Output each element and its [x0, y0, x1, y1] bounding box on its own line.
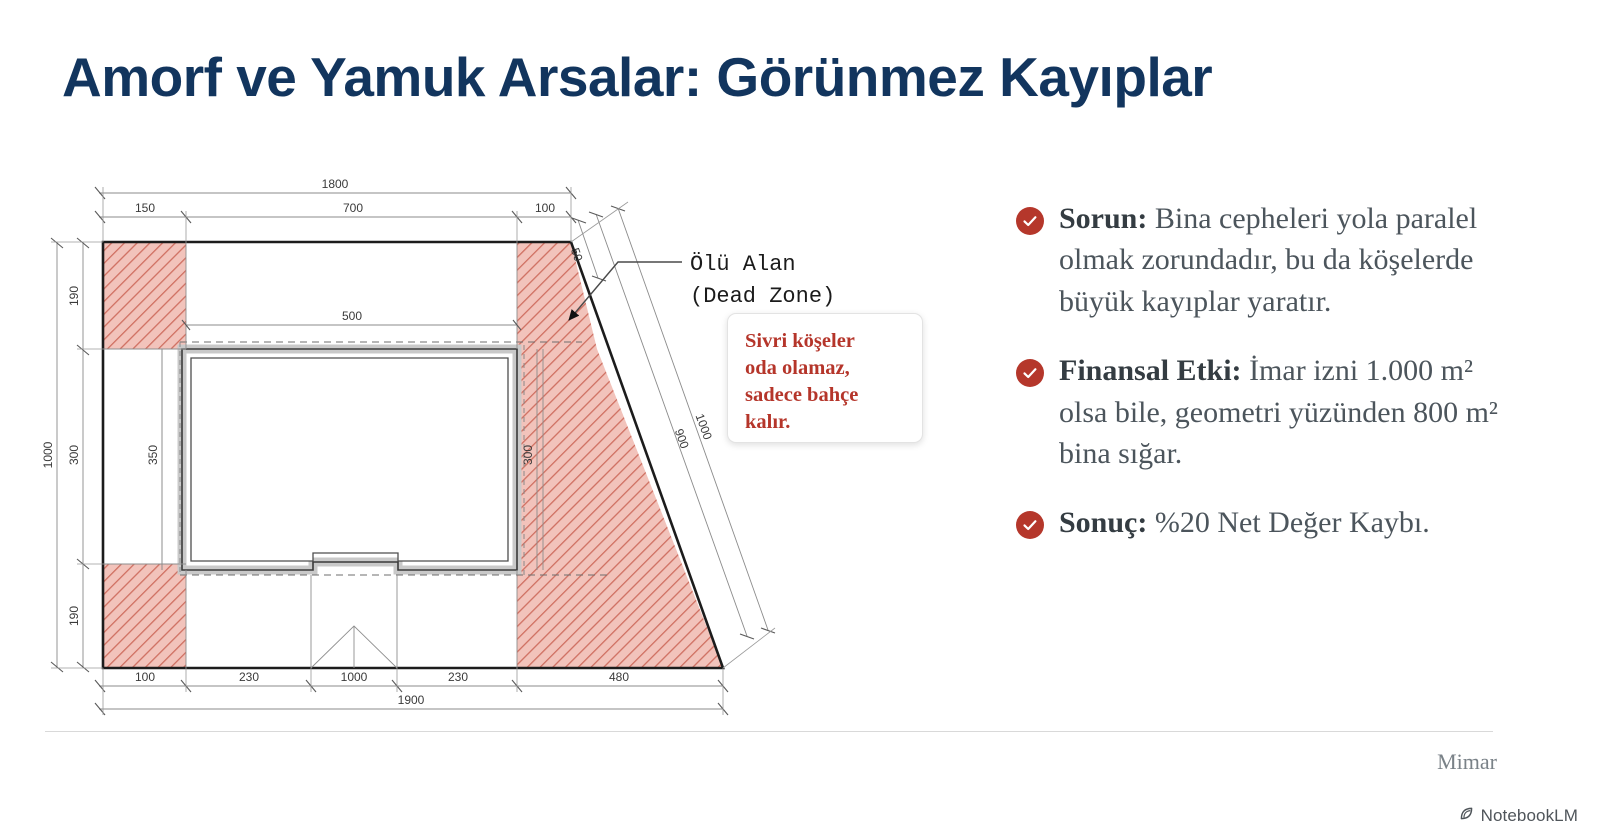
dead-zone-right-wedge [517, 349, 723, 668]
list-item: Sorun: Bina cepheleri yola paralel olmak… [1016, 198, 1526, 322]
bullet-text: Sonuç: %20 Net Değer Kaybı. [1059, 502, 1430, 543]
bullet-text: Sorun: Bina cepheleri yola paralel olmak… [1059, 198, 1526, 322]
bullet-lead: Sonuç: [1059, 506, 1147, 539]
check-circle-icon [1016, 207, 1044, 235]
dim-left-2: 300 [67, 445, 81, 465]
dim-top-3: 100 [535, 201, 555, 215]
callout-text: Sivri köşeler oda olamaz, sadece bahçe k… [745, 328, 906, 436]
dim-bottom-overall: 1900 [398, 693, 425, 707]
bullet-lead: Finansal Etki: [1059, 354, 1242, 387]
dim-inner-right: 300 [521, 445, 535, 465]
dim-left-3: 190 [67, 606, 81, 626]
dead-zone-bottom-left [103, 564, 186, 668]
key-points-list: Sorun: Bina cepheleri yola paralel olmak… [1016, 198, 1526, 572]
watermark-label: NotebookLM [1481, 806, 1578, 826]
dim-bottom-2: 230 [239, 670, 259, 684]
notebooklm-icon [1458, 805, 1475, 827]
check-circle-icon [1016, 511, 1044, 539]
check-circle-icon [1016, 359, 1044, 387]
notebooklm-watermark: NotebookLM [1458, 805, 1578, 827]
bullet-body: %20 Net Değer Kaybı. [1147, 506, 1429, 539]
dim-bottom-4: 230 [448, 670, 468, 684]
dim-bottom-5: 480 [609, 670, 629, 684]
dim-top-overall: 1800 [322, 177, 349, 191]
callout-box: Sivri köşeler oda olamaz, sadece bahçe k… [727, 313, 923, 443]
dim-top-1: 150 [135, 201, 155, 215]
dim-left-1: 190 [67, 286, 81, 306]
dead-zone-leader: Ölü Alan (Dead Zone) [569, 252, 835, 320]
dead-zone-label-line1: Ölü Alan [690, 252, 796, 277]
floor-plan-drawing: 1800 150 700 100 [0, 150, 990, 750]
list-item: Sonuç: %20 Net Değer Kaybı. [1016, 502, 1526, 543]
slide-canvas: Amorf ve Yamuk Arsalar: Görünmez Kayıpla… [0, 0, 1600, 836]
bullet-lead: Sorun: [1059, 202, 1147, 235]
dim-left-overall: 1000 [41, 441, 55, 468]
dim-inner-left: 350 [146, 445, 160, 465]
list-item: Finansal Etki: İmar izni 1.000 m² olsa b… [1016, 350, 1526, 474]
dim-bottom-1: 100 [135, 670, 155, 684]
top-dimension-group: 1800 150 700 100 [95, 177, 576, 242]
bottom-dimension-group: 100 230 1000 230 480 1900 [95, 668, 728, 715]
footer-divider [45, 731, 1493, 732]
dead-zone-label-line2: (Dead Zone) [690, 284, 835, 309]
entrance-symbol [311, 626, 397, 668]
dead-zone-top-left [103, 242, 186, 349]
dim-slant-inner: 900 [672, 427, 692, 451]
floor-plan-svg: 1800 150 700 100 [0, 150, 990, 750]
dim-bottom-3: 1000 [341, 670, 368, 684]
page-title: Amorf ve Yamuk Arsalar: Görünmez Kayıpla… [62, 45, 1212, 109]
dim-inner-top: 500 [342, 309, 362, 323]
building-footprint [182, 349, 517, 570]
bullet-text: Finansal Etki: İmar izni 1.000 m² olsa b… [1059, 350, 1526, 474]
dim-top-2: 700 [343, 201, 363, 215]
footer-label: Mimar [1437, 749, 1497, 775]
left-dimension-group: 1000 190 300 190 [41, 238, 103, 672]
